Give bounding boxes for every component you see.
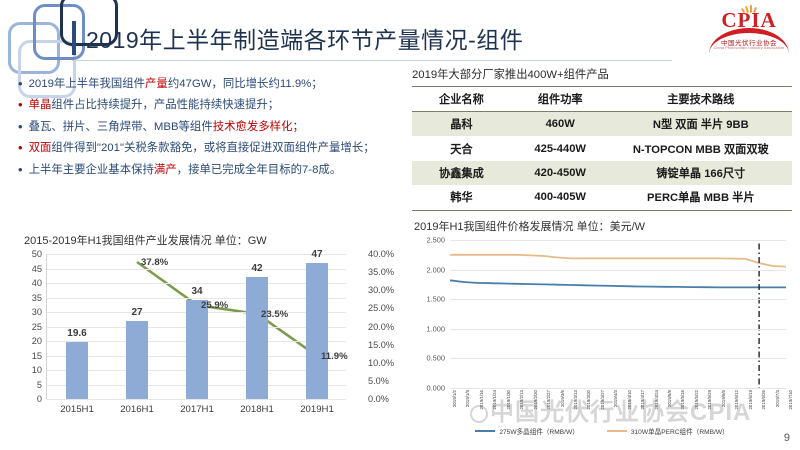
gridline — [47, 298, 346, 299]
title-accent-bar — [72, 21, 76, 55]
line-chart-x-tick: 2019/6/5 — [721, 390, 726, 407]
line-chart-x-tick: 2019/5/22 — [694, 390, 699, 410]
line-chart-x-tick: 2019/1/9 — [465, 390, 470, 407]
line-chart-x-tick: 2019/2/13 — [519, 390, 524, 410]
legend-swatch — [607, 430, 627, 432]
bullet-dot-icon: • — [18, 97, 23, 114]
bar-chart: 2015-2019年H1我国组件产业发展情况 单位：GW 05101520253… — [10, 232, 398, 444]
line-chart-y-tick: 1.500 — [427, 295, 446, 304]
line-chart-x-tick: 2019/5/15 — [680, 390, 685, 410]
gridline — [47, 254, 346, 255]
bar-chart-x-tick: 2017H1 — [180, 404, 214, 415]
table-cell-power: 420-450W — [511, 161, 610, 185]
gridline — [450, 240, 786, 241]
bar-chart-x-tick: 2019H1 — [300, 404, 334, 415]
line-chart-x-tick: 2019/6/19 — [748, 390, 753, 410]
line-chart-x-tick: 2019/4/10 — [627, 390, 632, 410]
title-divider — [72, 60, 672, 61]
table-cell-power: 425-440W — [511, 136, 610, 160]
table-cell-power: 460W — [511, 112, 610, 137]
bar-value-label: 47 — [311, 249, 322, 260]
bullet-highlight: 技术愈发多样化； — [213, 121, 304, 133]
bar-value-label: 42 — [251, 263, 262, 274]
bar-chart-y-tick-left: 45 — [32, 264, 42, 274]
page-title: 2019年上半年制造端各环节产量情况-组件 — [72, 18, 523, 58]
bar-chart-y-tick-left: 5 — [37, 380, 42, 390]
bar-chart-y-tick-left: 10 — [32, 365, 42, 375]
line-chart-y-tick: 0.500 — [427, 354, 446, 363]
bullet-text: 叠瓦、拼片、三角焊带、MBB等组件技术愈发多样化； — [29, 119, 398, 135]
legend-label: 310W单晶PERC组件（RMB/W） — [631, 426, 729, 436]
gridline — [47, 399, 346, 400]
bullet-highlight: 单晶 — [29, 99, 52, 111]
line-chart-x-tick: 2019/6/26 — [761, 390, 766, 410]
bar-value-label: 19.6 — [67, 328, 86, 339]
bar — [186, 300, 208, 399]
table-row: 天合425-440WN-TOPCON MBB 双面双玻 — [412, 136, 792, 160]
spec-table: 企业名称 组件功率 主要技术路线 晶科460WN型 双面 半片 9BB天合425… — [412, 86, 792, 211]
growth-rate-label: 11.9% — [321, 351, 348, 362]
bar-chart-y-tick-left: 35 — [32, 293, 42, 303]
bullet-text: 双面组件得到"201"关税条款豁免，或将直接促进双面组件产量增长； — [29, 140, 398, 156]
line-chart: 2019年H1我国组件价格发展情况 单位：美元/W 0.0000.5001.00… — [408, 218, 796, 444]
bullet-plain: 2019年上半年我国组件 — [29, 78, 145, 90]
line-chart-x-tick: 2019/5/29 — [707, 390, 712, 410]
line-chart-x-tick: 2019/5/8 — [667, 390, 672, 407]
page-number: 9 — [784, 432, 790, 444]
table-row: 韩华400-405WPERC单晶 MBB 半片 — [412, 185, 792, 210]
table-row: 协鑫集成420-450W铸锭单晶 166尺寸 — [412, 161, 792, 185]
line-chart-x-tick: 2019/4/3 — [613, 390, 618, 407]
bar-value-label: 27 — [131, 307, 142, 318]
slide-root: 2019年上半年制造端各环节产量情况-组件 CPIA 中国光伏行业协会 Chin… — [0, 0, 800, 450]
table-cell-power: 400-405W — [511, 185, 610, 210]
gridline — [450, 299, 786, 300]
table-cell-company: 协鑫集成 — [412, 161, 511, 185]
line-chart-x-tick: 2019/7/3 — [775, 390, 780, 407]
bar-chart-x-tick: 2016H1 — [120, 404, 154, 415]
gridline — [450, 358, 786, 359]
line-chart-x-tick: 2019/3/6 — [560, 390, 565, 407]
table-cell-company: 韩华 — [412, 185, 511, 210]
bar-chart-y-tick-left: 0 — [37, 394, 42, 404]
line-chart-x-tick: 2019/3/20 — [586, 390, 591, 410]
bar — [246, 277, 268, 399]
cpia-logo: CPIA 中国光伏行业协会 China Photovoltaic Industr… — [706, 4, 792, 54]
line-chart-y-tick: 0.000 — [427, 384, 446, 393]
line-chart-y-tick: 2.500 — [427, 236, 446, 245]
bar-chart-plot: 051015202530354045500.0%5.0%10.0%15.0%20… — [46, 254, 346, 399]
bullet-highlight: 满产 — [154, 164, 177, 176]
bullet-dot-icon: • — [18, 140, 23, 157]
price-series — [450, 240, 786, 388]
line-chart-x-tick: 2019/1/30 — [506, 390, 511, 410]
spec-table-caption: 2019年大部分厂家推出400W+组件产品 — [412, 66, 792, 82]
bullet-highlight: 双面 — [29, 142, 52, 154]
bar — [306, 263, 328, 399]
bar-chart-y-tick-right: 20.0% — [368, 322, 394, 332]
th-power: 组件功率 — [511, 87, 610, 112]
bar-chart-y-tick-right: 35.0% — [368, 267, 394, 277]
legend-label: 275W多晶组件（RMB/W） — [499, 426, 579, 436]
gridline — [47, 269, 346, 270]
bullet-plain: 叠瓦、拼片、三角焊带、MBB等组件 — [29, 121, 213, 133]
table-cell-company: 晶科 — [412, 112, 511, 137]
line-chart-x-tick: 2019/1/16 — [479, 390, 484, 410]
title-text: 2019年上半年制造端各环节产量情况-组件 — [86, 21, 523, 55]
bullet-item: •上半年主要企业基本保持满产，接单已完成全年目标的7-8成。 — [18, 162, 398, 179]
bullet-dot-icon: • — [18, 162, 23, 179]
bar-chart-y-tick-right: 5.0% — [368, 376, 389, 386]
table-header-row: 企业名称 组件功率 主要技术路线 — [412, 87, 792, 112]
bullet-list: •2019年上半年我国组件产量约47GW，同比增长约11.9%；•单晶组件占比持… — [18, 76, 398, 183]
bullet-plain: 上半年主要企业基本保持 — [29, 164, 154, 176]
table-cell-tech: 铸锭单晶 166尺寸 — [610, 161, 792, 185]
gridline — [47, 283, 346, 284]
bar-chart-y-tick-left: 20 — [32, 336, 42, 346]
bullet-text: 单晶组件占比持续提升，产品性能持续快速提升； — [29, 97, 398, 113]
line-chart-x-tick: 2019/3/13 — [573, 390, 578, 410]
bullet-dot-icon: • — [18, 119, 23, 136]
legend-swatch — [475, 430, 495, 432]
bar-chart-y-tick-left: 50 — [32, 249, 42, 259]
growth-rate-label: 23.5% — [261, 309, 288, 320]
line-chart-x-tick: 2019/4/17 — [640, 390, 645, 410]
line-chart-plot: 0.0000.5001.0001.5002.0002.500 — [450, 240, 786, 388]
table-cell-tech: N-TOPCON MBB 双面双玻 — [610, 136, 792, 160]
price-line-4a7eaa — [450, 280, 786, 287]
legend-item[interactable]: 310W单晶PERC组件（RMB/W） — [607, 426, 729, 436]
bar-chart-title: 2015-2019年H1我国组件产业发展情况 单位：GW — [24, 232, 398, 248]
bar-chart-y-tick-left: 40 — [32, 278, 42, 288]
bar-chart-y-tick-left: 30 — [32, 307, 42, 317]
line-chart-x-tick: 2019/2/27 — [546, 390, 551, 410]
bullet-text: 上半年主要企业基本保持满产，接单已完成全年目标的7-8成。 — [29, 162, 398, 178]
bullet-plain: 约47GW，同比增长约11.9%； — [168, 78, 323, 90]
bullet-highlight: 产量 — [145, 78, 168, 90]
bullet-text: 2019年上半年我国组件产量约47GW，同比增长约11.9%； — [29, 76, 398, 92]
bar-chart-y-tick-right: 30.0% — [368, 285, 394, 295]
line-chart-x-tick: 2019/7/10 — [788, 390, 793, 410]
bar-chart-y-tick-left: 25 — [32, 322, 42, 332]
bar-chart-y-tick-right: 25.0% — [368, 303, 394, 313]
bullet-plain: 组件占比持续提升，产品性能持续快速提升； — [51, 99, 279, 111]
legend-item[interactable]: 275W多晶组件（RMB/W） — [475, 426, 579, 436]
th-tech: 主要技术路线 — [610, 87, 792, 112]
table-cell-company: 天合 — [412, 136, 511, 160]
bar-chart-y-tick-right: 0.0% — [368, 394, 389, 404]
line-chart-x-tick: 2019/2/20 — [533, 390, 538, 410]
bar-chart-y-tick-left: 15 — [32, 351, 42, 361]
gridline — [450, 329, 786, 330]
gridline — [450, 270, 786, 271]
bullet-dot-icon: • — [18, 76, 23, 93]
line-chart-x-tick: 2019/1/2 — [452, 390, 457, 407]
th-company: 企业名称 — [412, 87, 511, 112]
bullet-item: •双面组件得到"201"关税条款豁免，或将直接促进双面组件产量增长； — [18, 140, 398, 157]
bullet-item: •2019年上半年我国组件产量约47GW，同比增长约11.9%； — [18, 76, 398, 93]
price-line-e8b98a — [450, 255, 786, 267]
line-chart-x-tick: 2019/6/12 — [734, 390, 739, 410]
line-chart-y-tick: 1.000 — [427, 324, 446, 333]
bar-chart-y-tick-right: 40.0% — [368, 249, 394, 259]
logo-english-name: China Photovoltaic Industry Association — [706, 46, 792, 50]
line-chart-title: 2019年H1我国组件价格发展情况 单位：美元/W — [414, 218, 796, 234]
bullet-item: •单晶组件占比持续提升，产品性能持续快速提升； — [18, 97, 398, 114]
line-chart-y-tick: 2.000 — [427, 265, 446, 274]
line-chart-x-tick: 2019/1/24 — [492, 390, 497, 410]
bar-chart-y-tick-right: 10.0% — [368, 358, 394, 368]
bullet-item: •叠瓦、拼片、三角焊带、MBB等组件技术愈发多样化； — [18, 119, 398, 136]
bar — [66, 342, 88, 399]
growth-rate-label: 25.9% — [201, 300, 228, 311]
bar-chart-y-tick-right: 15.0% — [368, 340, 394, 350]
bar — [126, 321, 148, 399]
bullet-plain: 组件得到"201"关税条款豁免，或将直接促进双面组件产量增长； — [51, 142, 374, 154]
bar-chart-x-tick: 2018H1 — [240, 404, 274, 415]
bullet-plain: ，接单已完成全年目标的7-8成。 — [177, 164, 342, 176]
table-cell-tech: PERC单晶 MBB 半片 — [610, 185, 792, 210]
line-chart-legend: 275W多晶组件（RMB/W）310W单晶PERC组件（RMB/W） — [408, 426, 796, 436]
growth-rate-label: 37.8% — [141, 257, 168, 268]
table-row: 晶科460WN型 双面 半片 9BB — [412, 112, 792, 137]
bar-value-label: 34 — [191, 286, 202, 297]
spec-table-block: 2019年大部分厂家推出400W+组件产品 企业名称 组件功率 主要技术路线 晶… — [412, 66, 792, 211]
line-chart-x-tick: 2019/4/24 — [654, 390, 659, 410]
line-chart-x-tick: 2019/3/27 — [600, 390, 605, 410]
bar-chart-x-tick: 2015H1 — [60, 404, 94, 415]
table-cell-tech: N型 双面 半片 9BB — [610, 112, 792, 137]
